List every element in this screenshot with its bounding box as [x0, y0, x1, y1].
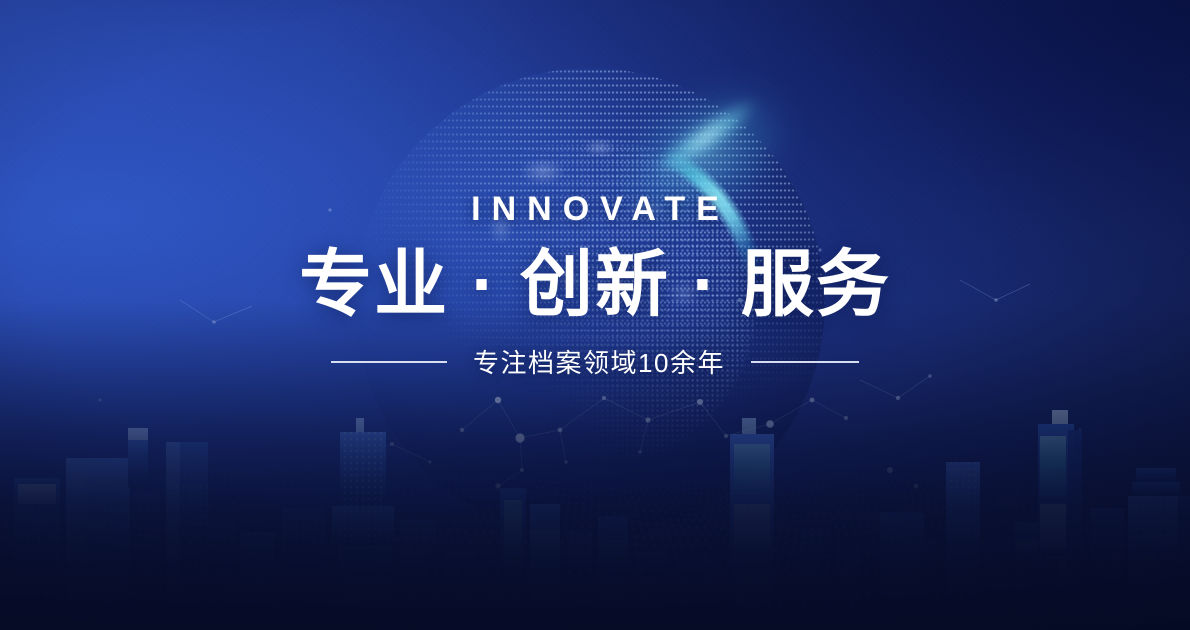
banner-content: INNOVATE 专业 · 创新 · 服务 专注档案领域10余年	[0, 0, 1190, 630]
hero-banner: INNOVATE 专业 · 创新 · 服务 专注档案领域10余年	[0, 0, 1190, 630]
eyebrow-text: INNOVATE	[460, 192, 730, 226]
divider-right-icon	[751, 361, 859, 363]
page-title: 专业 · 创新 · 服务	[299, 246, 891, 323]
divider-left-icon	[331, 361, 447, 363]
subtitle-text: 专注档案领域10余年	[473, 343, 725, 380]
subtitle-row: 专注档案领域10余年	[331, 343, 859, 380]
